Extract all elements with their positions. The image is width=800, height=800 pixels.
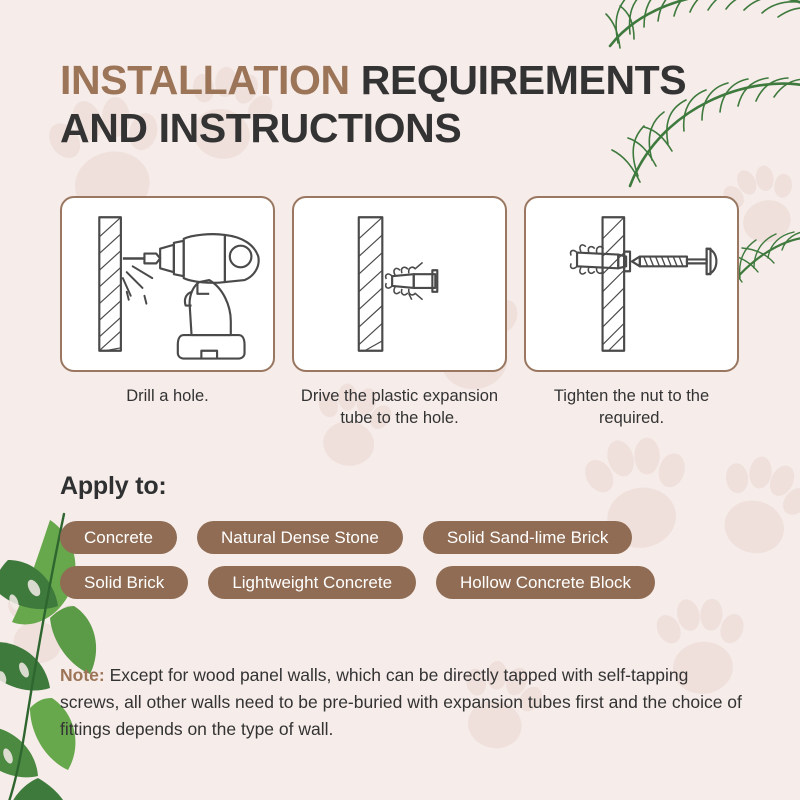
apply-to-pill-list: Concrete Natural Dense Stone Solid Sand-… — [60, 521, 754, 611]
note-block: Note: Except for wood panel walls, which… — [60, 662, 752, 743]
wall-anchor-and-screw-icon — [526, 196, 737, 372]
step-3: Tighten the nut to the required. — [524, 196, 739, 430]
step-1-caption: Drill a hole. — [60, 386, 275, 408]
note-body: Except for wood panel walls, which can b… — [60, 665, 742, 739]
wall-and-drill-icon — [62, 196, 273, 372]
pill-hollow-concrete-block[interactable]: Hollow Concrete Block — [436, 566, 655, 599]
step-2-caption: Drive the plastic expansion tube to the … — [292, 386, 507, 430]
page-title: INSTALLATION REQUIREMENTSAND INSTRUCTION… — [60, 56, 740, 153]
step-1: Drill a hole. — [60, 196, 275, 430]
pill-row-1: Concrete Natural Dense Stone Solid Sand-… — [60, 521, 754, 554]
title-block: INSTALLATION REQUIREMENTSAND INSTRUCTION… — [60, 56, 740, 153]
step-2: Drive the plastic expansion tube to the … — [292, 196, 507, 430]
step-2-card — [292, 196, 507, 372]
poster-content: INSTALLATION REQUIREMENTSAND INSTRUCTION… — [0, 0, 800, 800]
pill-natural-dense-stone[interactable]: Natural Dense Stone — [197, 521, 403, 554]
wall-and-expansion-tube-icon — [294, 196, 505, 372]
page-title-line2: AND INSTRUCTIONS — [60, 105, 461, 151]
step-1-card — [60, 196, 275, 372]
pill-row-2: Solid Brick Lightweight Concrete Hollow … — [60, 566, 754, 599]
step-3-caption: Tighten the nut to the required. — [524, 386, 739, 430]
page-title-rest — [350, 57, 361, 103]
pill-concrete[interactable]: Concrete — [60, 521, 177, 554]
pill-solid-sand-lime-brick[interactable]: Solid Sand-lime Brick — [423, 521, 633, 554]
pill-solid-brick[interactable]: Solid Brick — [60, 566, 188, 599]
apply-to-heading: Apply to: — [60, 472, 167, 501]
pill-lightweight-concrete[interactable]: Lightweight Concrete — [208, 566, 416, 599]
steps-row: Drill a hole. — [60, 196, 740, 430]
step-3-card — [524, 196, 739, 372]
note-label: Note: — [60, 665, 105, 685]
page-title-accent: INSTALLATION — [60, 57, 350, 103]
page-title-line1-rest: REQUIREMENTS — [361, 57, 687, 103]
